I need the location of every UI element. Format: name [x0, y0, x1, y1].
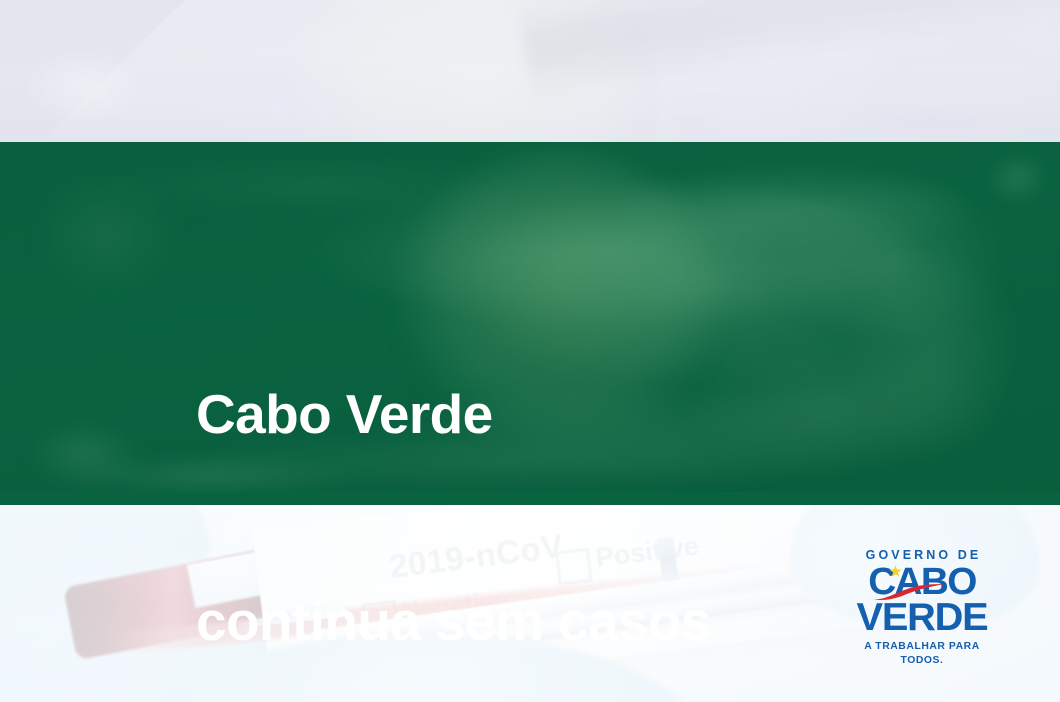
governo-cabo-verde-logo: GOVERNO DE CABO VERDE A TRABALHAR PARA T… — [842, 548, 1002, 668]
headline-line-1: Cabo Verde — [196, 380, 996, 449]
poster-root: Cabo Verde continua sem casos confirmado… — [0, 0, 1060, 702]
logo-verde-text: VERDE — [840, 599, 1003, 636]
logo-cabo-group: CABO — [842, 564, 1002, 599]
logo-tagline-text: A TRABALHAR PARA TODOS. — [842, 640, 1002, 668]
top-photo-strip — [0, 0, 1060, 142]
red-swoosh-icon — [872, 583, 946, 601]
logo-governo-de-text: GOVERNO DE — [845, 548, 1002, 562]
